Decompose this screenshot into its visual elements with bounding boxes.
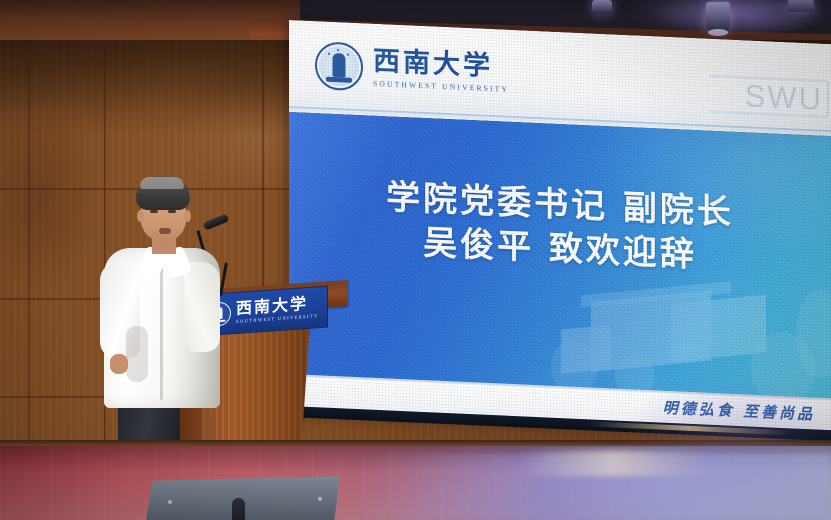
podium-logo-text: 西南大学 SOUTHWEST UNIVERSITY: [236, 295, 318, 324]
person-shirt-placket: [160, 268, 163, 400]
person-hand: [110, 354, 128, 374]
university-logo: 西南大学 SOUTHWEST UNIVERSITY: [315, 41, 509, 98]
person-right-sleeve: [184, 262, 220, 352]
stage-spotlight-secondary-icon: [592, 0, 612, 14]
university-logo-text: 西南大学 SOUTHWEST UNIVERSITY: [373, 48, 509, 94]
auditorium-photo: 西南大学 SOUTHWEST UNIVERSITY SWU: [0, 0, 831, 520]
led-presentation-screen: 西南大学 SOUTHWEST UNIVERSITY SWU: [289, 20, 831, 437]
seal-star-dots: [326, 48, 352, 57]
person-mouth: [159, 228, 171, 234]
university-name-cn: 西南大学: [373, 48, 509, 81]
person-eye-left: [150, 210, 158, 213]
college-motto: 明德弘食 至善尚品: [663, 397, 815, 425]
swu-watermark: SWU: [745, 78, 823, 117]
floor-light-reflection: [520, 450, 710, 476]
speaker-handle-slot: [232, 498, 245, 520]
stage-spotlight-icon: [706, 2, 730, 32]
person-eye-right: [168, 210, 176, 213]
slide-body-band: 学院党委书记 副院长 吴俊平 致欢迎辞: [289, 112, 831, 398]
person-ear-left: [137, 210, 144, 222]
ceiling-truss-fixture-icon: [788, 0, 814, 12]
university-seal-icon: [315, 41, 363, 91]
stage-floor: [0, 446, 831, 520]
slide-content: 西南大学 SOUTHWEST UNIVERSITY SWU: [289, 20, 831, 437]
person-arm-shadow: [126, 326, 148, 382]
wall-seam: [28, 40, 30, 450]
speaker-screw: [168, 500, 172, 504]
speaker-screw: [318, 497, 322, 501]
person-ear-right: [184, 210, 191, 222]
person-hair-highlight: [140, 177, 184, 189]
university-name-en: SOUTHWEST UNIVERSITY: [373, 80, 509, 94]
speaker-person: [96, 176, 226, 466]
watermark-building: [671, 295, 766, 362]
